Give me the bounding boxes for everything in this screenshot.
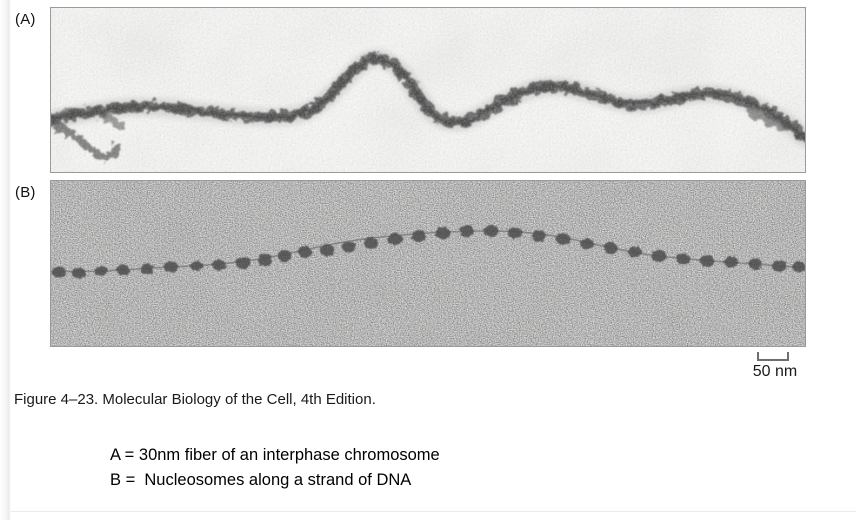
- legend-line-a: A = 30nm fiber of an interphase chromoso…: [110, 443, 440, 468]
- figure-page: (A): [0, 0, 856, 520]
- scale-bar-bracket-icon: [757, 352, 789, 361]
- panel-label-b: (B): [15, 185, 36, 200]
- page-left-margin-strip: [0, 0, 11, 520]
- page-bottom-rule: [11, 511, 856, 512]
- scale-bar-label: 50 nm: [736, 363, 814, 381]
- scale-bar: 50 nm: [736, 348, 814, 388]
- micrograph-panel-a: [50, 7, 806, 173]
- figure-legend: A = 30nm fiber of an interphase chromoso…: [110, 443, 440, 493]
- figure-caption: Figure 4–23. Molecular Biology of the Ce…: [14, 391, 376, 408]
- panel-label-a: (A): [15, 12, 36, 27]
- legend-line-b: B = Nucleosomes along a strand of DNA: [110, 468, 440, 493]
- micrograph-panel-b: [50, 180, 806, 347]
